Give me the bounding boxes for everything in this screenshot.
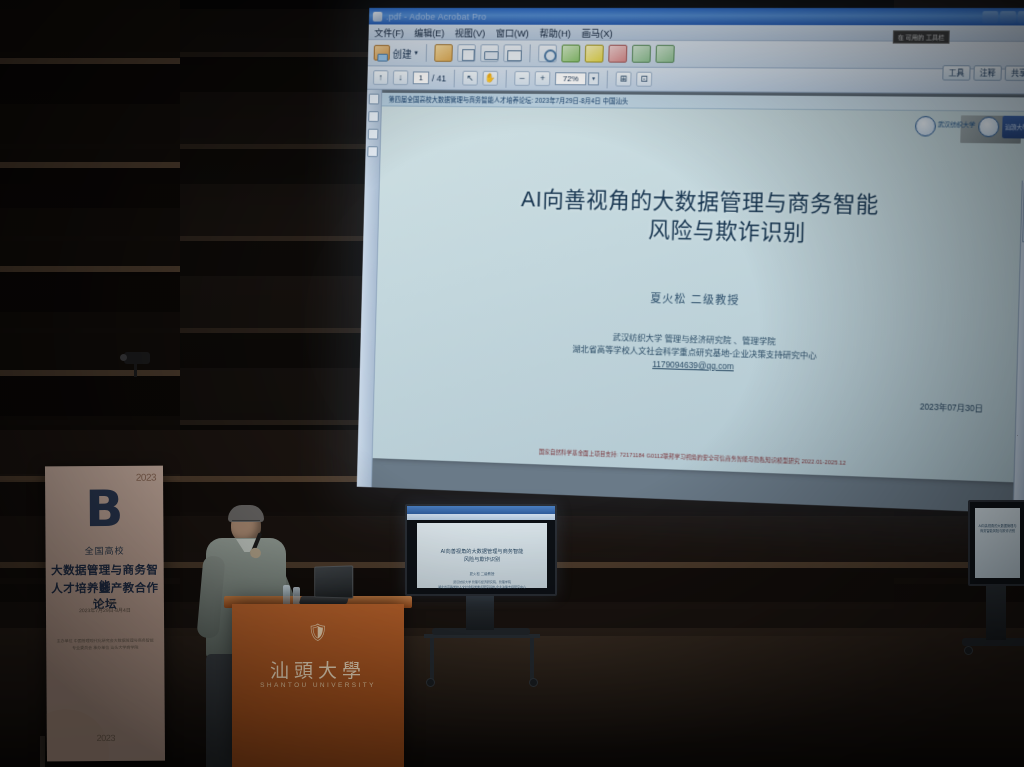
university-crest-icon: 🛡 [232,624,404,641]
monitor-window-titlebar [407,506,555,514]
poster-subtitle: 全国高校 [46,544,164,558]
menu-edit[interactable]: 编辑(E) [414,25,445,39]
acrobat-app-icon [373,11,383,21]
laptop-screen [314,565,353,598]
menu-file[interactable]: 文件(F) [374,25,404,39]
monitor-author: 夏火松 二级教授 [423,571,541,576]
slide-logo-group: 武汉纺织大学 汕頭大學 [915,114,1024,139]
comment-bubble-icon[interactable] [561,45,580,63]
monitor-stand [466,596,494,630]
folder-open-icon[interactable] [434,44,453,62]
zoom-out-button[interactable]: – [514,71,530,86]
fit-page-icon[interactable]: ⊡ [636,72,652,87]
create-button-label: 创建 [393,45,412,60]
right-monitor-canvas: AI向善视角的大数据管理与商务智能风险与欺诈识别 [975,508,1020,578]
tools-pane-button[interactable]: 工具 [942,65,970,80]
slide-affiliation: 武汉纺织大学 管理与经济研究院 、管理学院 湖北省高等学校人文社会科学重点研究基… [375,325,1024,382]
bookmarks-icon[interactable] [368,111,379,122]
next-page-icon[interactable]: ↓ [393,70,409,85]
toolbar-divider [454,69,455,87]
create-button[interactable]: 创建 ▾ [374,45,418,61]
toolbar-divider [425,44,426,62]
create-pdf-icon [374,45,390,61]
menu-window[interactable]: 窗口(W) [496,25,529,39]
right-side-monitor: AI向善视角的大数据管理与商务智能风险与欺诈识别 [968,500,1024,586]
menu-help[interactable]: 帮助(H) [539,25,571,39]
zoom-level-value[interactable]: 72% [555,72,587,85]
monitor-slide-title: AI向善视角的大数据管理与商务智能 风险与欺诈识别 [423,549,541,564]
poster-body-text: 主办单位 中国管理现代化研究会大数据管理与商务智能专业委员会 承办单位 汕头大学… [56,638,154,652]
water-bottle [283,585,290,606]
monitor-window-toolbar [407,514,555,520]
poster-stand [40,736,45,767]
poster-meta-dates: 2023年7月29日-8月4日 [46,607,164,615]
monitor-slide-canvas: AI向善视角的大数据管理与商务智能 风险与欺诈识别 夏火松 二级教授 武汉纺织大… [417,523,547,588]
page-number-input[interactable] [413,71,429,84]
signatures-icon[interactable] [367,146,378,157]
print-icon[interactable] [480,44,499,62]
slide-author: 夏火松 二级教授 [377,284,1024,316]
slide-conference-banner: 第四届全国高校大数据管理与商务智能人才培养论坛: 2023年7月29日-8月4日… [382,93,1024,112]
slide-title-line-2: 风险与欺诈识别 [378,211,1024,252]
forum-r-logo [978,114,1000,138]
logo-label: 武汉纺织大学 [938,123,976,130]
university-seal-icon [915,115,936,136]
monitor-aff-line-2: 湖北省高等学校人文社会科学重点研究基地-企业决策支持研究中心 [423,585,541,590]
page-number-box[interactable]: / 41 [413,71,447,84]
select-arrow-icon[interactable]: ↖ [462,71,478,86]
chevron-down-icon: ▾ [414,49,418,57]
slide-date: 2023年07月30日 [920,400,984,414]
forum-seal-icon [978,116,999,137]
menu-view[interactable]: 视图(V) [455,25,486,39]
auditorium-presentation-scene: .pdf - Adobe Acrobat Pro 文件(F) 编辑(E) 视图(… [0,0,1024,767]
window-titlebar: .pdf - Adobe Acrobat Pro [369,8,1024,26]
toolbar-divider [607,70,608,88]
cart-wheel [529,678,538,687]
monitor-title-line-2: 风险与欺诈识别 [423,557,541,565]
poster-meta: 广东 · 汕头 2023年7月29日-8月4日 [46,600,164,616]
right-monitor-stand [986,586,1006,640]
wuhan-textile-university-logo: 武汉纺织大学 [915,114,976,138]
ceiling-camera-icon [124,352,150,364]
gear-icon[interactable] [538,44,557,62]
toolbar-tooltip: 在 可用的 工具栏 [892,30,949,43]
confidence-monitor: AI向善视角的大数据管理与商务智能 风险与欺诈识别 夏火松 二级教授 武汉纺织大… [405,504,557,596]
poster-logo-letter: B [45,484,163,535]
zoom-dropdown-chevron-icon[interactable]: ▾ [588,72,599,85]
pdf-page-canvas[interactable]: 第四届全国高校大数据管理与商务智能人才培养论坛: 2023年7月29日-8月4日… [372,90,1024,514]
right-monitor-wheel [964,646,973,655]
main-toolbar[interactable]: 创建 ▾ [368,40,1024,70]
hand-icon[interactable]: ✋ [482,71,498,86]
email-icon[interactable] [503,44,522,62]
toolbar-divider [505,70,506,88]
slide-title-line-1: AI向善视角的大数据管理与商务智能 [521,187,879,218]
pdf-slide-page-1: 第四届全国高校大数据管理与商务智能人才培养论坛: 2023年7月29日-8月4日… [373,93,1024,483]
attachments-icon[interactable] [368,129,379,140]
monitor-title-line-1: AI向善视角的大数据管理与商务智能 [423,549,541,557]
zoom-in-button[interactable]: + [535,71,551,86]
document-area: 第四届全国高校大数据管理与商务智能人才培养论坛: 2023年7月29日-8月4日… [357,90,1024,514]
fit-width-icon[interactable]: ⊞ [615,72,631,87]
maximize-button[interactable] [1000,11,1016,23]
page-thumbnails-icon[interactable] [369,94,380,105]
projection-screen: .pdf - Adobe Acrobat Pro 文件(F) 编辑(E) 视图(… [352,8,1024,500]
page-total-label: / 41 [432,73,447,83]
minimize-button[interactable] [982,11,998,23]
cart-wheel [426,678,435,687]
close-button[interactable] [1018,11,1024,23]
camera-mount [134,364,137,377]
attach-icon[interactable] [631,45,650,63]
logo-label: 汕頭大學 [1005,122,1024,130]
window-title: .pdf - Adobe Acrobat Pro [386,11,487,21]
previous-page-icon[interactable]: ↑ [373,70,388,85]
podium: 🛡 汕頭大學 SHANTOU UNIVERSITY [232,604,404,767]
slide-title: AI向善视角的大数据管理与商务智能 风险与欺诈识别 [378,182,1024,252]
right-monitor-title: AI向善视角的大数据管理与商务智能风险与欺诈识别 [978,524,1017,534]
menu-extra[interactable]: 画马(X) [581,25,612,39]
monitor-cart [424,634,540,686]
podium-university-name-en: SHANTOU UNIVERSITY [232,682,404,689]
speaker-glasses [232,520,260,526]
poster-footer-year: 2023 [47,733,165,744]
task-pane-buttons[interactable]: 工具 注释 共享 [942,65,1024,81]
save-icon[interactable] [457,44,476,62]
monitor-affiliation: 武汉纺织大学 管理与经济研究院、管理学院 湖北省高等学校人文社会科学重点研究基地… [423,580,541,590]
sign-icon[interactable] [655,45,674,63]
cart-leg [530,638,534,682]
acrobat-window: .pdf - Adobe Acrobat Pro 文件(F) 编辑(E) 视图(… [357,8,1024,514]
slide-funding-footer: 国家自然科学基金面上项目支持: 72171184 G0112联邦学习视角的安全可… [373,442,1024,474]
zoom-level-box[interactable]: 72% ▾ [555,72,599,85]
shantou-university-logo: 汕頭大學 [1002,115,1024,138]
stamp-icon[interactable] [608,45,627,63]
share-pane-button[interactable]: 共享 [1005,65,1024,81]
poster-year: 2023 [136,473,156,484]
comment-pane-button[interactable]: 注释 [973,65,1002,81]
podium-university-name-cn: 汕頭大學 [232,656,404,683]
highlight-icon[interactable] [584,45,603,63]
forum-poster-banner: 2023 B 全国高校 大数据管理与商务智能 人才培养暨产教合作论坛 广东 · … [45,466,165,762]
window-controls[interactable] [982,11,1024,23]
cart-leg [430,638,434,682]
toolbar-divider [529,44,530,62]
